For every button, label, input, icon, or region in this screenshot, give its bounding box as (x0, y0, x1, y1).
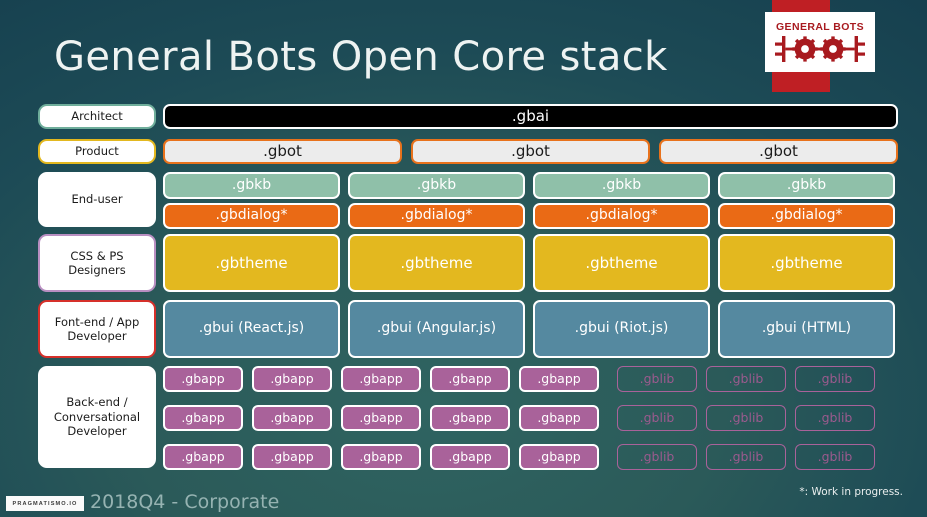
row-gbai: .gbai (163, 104, 898, 129)
tile-gbui-angular[interactable]: .gbui (Angular.js) (348, 300, 525, 358)
tile-gbapp[interactable]: .gbapp (163, 444, 243, 470)
role-label: Architect (71, 109, 123, 123)
tile-gbapp[interactable]: .gbapp (252, 366, 332, 392)
role-chip-end-user[interactable]: End-user (38, 172, 156, 227)
page-title: General Bots Open Core stack (54, 34, 668, 80)
tile-gbot[interactable]: .gbot (411, 139, 650, 164)
tile-gbapp[interactable]: .gbapp (430, 366, 510, 392)
tile-gbtheme[interactable]: .gbtheme (348, 234, 525, 292)
tile-gbapp[interactable]: .gbapp (341, 444, 421, 470)
tile-gbtheme[interactable]: .gbtheme (163, 234, 340, 292)
row-gbui: .gbui (React.js) .gbui (Angular.js) .gbu… (163, 300, 898, 358)
row-gbot: .gbot .gbot .gbot (163, 139, 898, 164)
tile-gblib[interactable]: .gblib (706, 366, 786, 392)
tile-gblib[interactable]: .gblib (617, 405, 697, 431)
row-gbapp-gblib-2: .gbapp .gbapp .gbapp .gbapp .gbapp .gbli… (163, 405, 898, 431)
tile-gbapp[interactable]: .gbapp (163, 405, 243, 431)
tile-gbapp[interactable]: .gbapp (519, 444, 599, 470)
row-gbkb: .gbkb .gbkb .gbkb .gbkb (163, 172, 898, 199)
tile-gbapp[interactable]: .gbapp (430, 405, 510, 431)
pragmatismo-wordmark: PRAGMATISMO.IO (12, 501, 77, 507)
role-chip-architect[interactable]: Architect (38, 104, 156, 129)
role-chip-back-end-conversational-developer[interactable]: Back-end /ConversationalDeveloper (38, 366, 156, 468)
tile-gbapp[interactable]: .gbapp (341, 366, 421, 392)
tile-gbui-react[interactable]: .gbui (React.js) (163, 300, 340, 358)
tile-gbkb[interactable]: .gbkb (718, 172, 895, 199)
tile-gbdialog[interactable]: .gbdialog* (718, 203, 895, 229)
role-label: Font-end / AppDeveloper (55, 315, 140, 344)
tile-gbot[interactable]: .gbot (659, 139, 898, 164)
role-label: Back-end /ConversationalDeveloper (54, 395, 140, 438)
pragmatismo-logo: PRAGMATISMO.IO (6, 496, 84, 511)
tile-gbdialog[interactable]: .gbdialog* (348, 203, 525, 229)
tile-gblib[interactable]: .gblib (795, 405, 875, 431)
role-label: CSS & PSDesigners (68, 249, 126, 278)
general-bots-logo: GENERAL BOTS (765, 12, 875, 72)
role-chip-product[interactable]: Product (38, 139, 156, 164)
row-gbapp-gblib-3: .gbapp .gbapp .gbapp .gbapp .gbapp .gbli… (163, 444, 898, 470)
role-label: Product (75, 144, 119, 158)
role-chip-css-ps-designers[interactable]: CSS & PSDesigners (38, 234, 156, 292)
tile-gbapp[interactable]: .gbapp (252, 405, 332, 431)
role-label: End-user (71, 192, 122, 206)
tile-gbui-riot[interactable]: .gbui (Riot.js) (533, 300, 710, 358)
tile-gbkb[interactable]: .gbkb (533, 172, 710, 199)
tile-gbapp[interactable]: .gbapp (341, 405, 421, 431)
slide-canvas: GENERAL BOTS (0, 0, 927, 517)
tile-gbdialog[interactable]: .gbdialog* (163, 203, 340, 229)
row-gbapp-gblib-1: .gbapp .gbapp .gbapp .gbapp .gbapp .gbli… (163, 366, 898, 392)
tile-gblib[interactable]: .gblib (617, 366, 697, 392)
tile-gbapp[interactable]: .gbapp (519, 405, 599, 431)
tile-gblib[interactable]: .gblib (706, 405, 786, 431)
role-chip-front-end-app-developer[interactable]: Font-end / AppDeveloper (38, 300, 156, 358)
tile-gbai[interactable]: .gbai (163, 104, 898, 129)
tile-gbapp[interactable]: .gbapp (519, 366, 599, 392)
tile-gbtheme[interactable]: .gbtheme (718, 234, 895, 292)
tile-gbapp[interactable]: .gbapp (430, 444, 510, 470)
tile-gbkb[interactable]: .gbkb (348, 172, 525, 199)
tile-gbdialog[interactable]: .gbdialog* (533, 203, 710, 229)
work-in-progress-note: *: Work in progress. (799, 486, 903, 498)
tile-gbapp[interactable]: .gbapp (252, 444, 332, 470)
tile-gbot[interactable]: .gbot (163, 139, 402, 164)
tile-gbkb[interactable]: .gbkb (163, 172, 340, 199)
tile-gbtheme[interactable]: .gbtheme (533, 234, 710, 292)
tile-gblib[interactable]: .gblib (795, 444, 875, 470)
tile-gbapp[interactable]: .gbapp (163, 366, 243, 392)
tile-gblib[interactable]: .gblib (617, 444, 697, 470)
footer-caption: 2018Q4 - Corporate (90, 491, 279, 513)
tile-gbui-html[interactable]: .gbui (HTML) (718, 300, 895, 358)
tile-gblib[interactable]: .gblib (795, 366, 875, 392)
row-gbdialog: .gbdialog* .gbdialog* .gbdialog* .gbdial… (163, 203, 898, 229)
logo-wordmark: GENERAL BOTS (776, 21, 864, 33)
row-gbtheme: .gbtheme .gbtheme .gbtheme .gbtheme (163, 234, 898, 292)
gears-logo-icon (774, 34, 866, 64)
tile-gblib[interactable]: .gblib (706, 444, 786, 470)
